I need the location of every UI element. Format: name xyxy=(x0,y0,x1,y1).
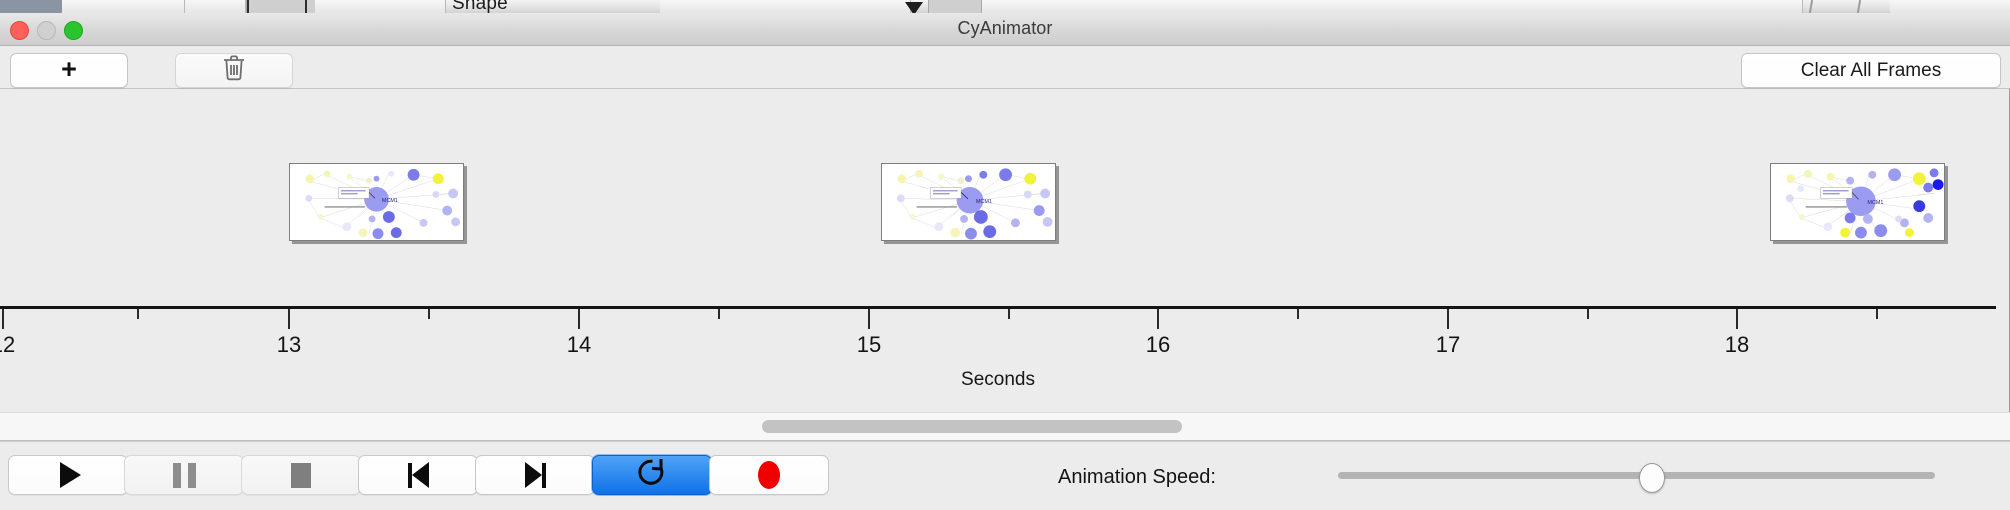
keyframe-thumbnail[interactable]: MCM1 xyxy=(289,163,464,241)
stop-button[interactable] xyxy=(241,455,361,495)
timeline-tick-minor xyxy=(718,309,720,319)
timeline-axis-line xyxy=(0,306,1996,309)
timeline-tick-label: 12 xyxy=(0,332,15,358)
trash-icon xyxy=(221,53,247,88)
timeline-tick-major xyxy=(578,309,580,329)
timeline-tick-minor xyxy=(1297,309,1299,319)
timeline-tick-major xyxy=(288,309,290,329)
timeline-panel[interactable]: MCM1 xyxy=(0,89,2010,412)
timeline-scrollbar-track[interactable] xyxy=(0,412,2010,441)
timeline-tick-label: 14 xyxy=(567,332,591,358)
pause-icon xyxy=(173,463,196,488)
animation-speed-slider[interactable] xyxy=(1338,472,1935,479)
timeline-tick-minor xyxy=(1008,309,1010,319)
frame-toolbar: + Clear All Frames xyxy=(0,46,2010,89)
stop-icon xyxy=(291,463,311,488)
record-icon xyxy=(758,461,780,489)
timeline-tick-major xyxy=(868,309,870,329)
timeline-tick-label: 16 xyxy=(1146,332,1170,358)
background-window-dark-segment xyxy=(0,0,62,13)
timeline-tick-label: 17 xyxy=(1436,332,1460,358)
background-window-segment xyxy=(185,0,246,13)
animation-speed-label: Animation Speed: xyxy=(1058,466,1216,489)
playback-control-bar: Animation Speed: xyxy=(0,441,2010,510)
window-title: CyAnimator xyxy=(0,18,2010,39)
skip-forward-icon xyxy=(525,462,546,488)
animation-speed-slider-knob[interactable] xyxy=(1639,463,1665,493)
hub-node-label: MCM1 xyxy=(976,199,992,205)
background-shape-label: Shape xyxy=(452,0,508,13)
clear-all-frames-button[interactable]: Clear All Frames xyxy=(1741,53,2001,88)
delete-frame-button[interactable] xyxy=(175,53,293,88)
timeline-scrollbar-thumb[interactable] xyxy=(762,420,1182,433)
background-window-segment xyxy=(1890,0,2010,13)
timeline-tick-major xyxy=(1736,309,1738,329)
background-tick xyxy=(305,0,307,13)
skip-back-icon xyxy=(408,462,429,488)
title-bar: CyAnimator xyxy=(0,13,2010,46)
background-window-segment xyxy=(62,0,185,13)
background-window-segment xyxy=(315,0,446,13)
background-window-strip: Shape xyxy=(0,0,2010,13)
timeline-axis-title: Seconds xyxy=(0,369,1996,391)
loop-button[interactable] xyxy=(592,455,712,495)
background-tick xyxy=(1809,0,1813,13)
background-tick xyxy=(247,0,249,13)
background-window-segment xyxy=(982,0,1803,13)
timeline-tick-major xyxy=(1447,309,1449,329)
plus-icon: + xyxy=(61,56,77,83)
timeline-tick-minor xyxy=(1587,309,1589,319)
network-thumbnail-graphic: MCM1 xyxy=(1771,164,1944,240)
clear-all-frames-label: Clear All Frames xyxy=(1801,60,1941,82)
network-thumbnail-graphic: MCM1 xyxy=(290,164,463,240)
play-button[interactable] xyxy=(8,455,128,495)
timeline-tick-major xyxy=(2,309,4,329)
network-thumbnail-graphic: MCM1 xyxy=(882,164,1055,240)
timeline-tick-label: 18 xyxy=(1725,332,1749,358)
hub-node-label: MCM1 xyxy=(1867,200,1883,206)
hub-node-label: MCM1 xyxy=(382,198,398,204)
play-icon xyxy=(60,462,81,488)
skip-to-end-button[interactable] xyxy=(475,455,595,495)
add-frame-button[interactable]: + xyxy=(10,53,128,88)
timeline-tick-major xyxy=(1157,309,1159,329)
cyanimator-window: Shape CyAnimator + xyxy=(0,0,2010,510)
pause-button[interactable] xyxy=(124,455,244,495)
timeline-tick-label: 15 xyxy=(857,332,881,358)
background-cursor-arrow xyxy=(905,2,923,13)
timeline-tick-minor xyxy=(428,309,430,319)
timeline-tick-minor xyxy=(137,309,139,319)
background-window-segment xyxy=(660,0,911,13)
keyframe-thumbnail[interactable]: MCM1 xyxy=(1770,163,1945,241)
background-window-segment xyxy=(928,0,982,13)
timeline-tick-label: 13 xyxy=(277,332,301,358)
background-tick xyxy=(1857,0,1861,13)
record-button[interactable] xyxy=(709,455,829,495)
loop-icon xyxy=(637,457,667,494)
skip-to-start-button[interactable] xyxy=(358,455,478,495)
keyframe-thumbnail[interactable]: MCM1 xyxy=(881,163,1056,241)
timeline-tick-minor xyxy=(1876,309,1878,319)
